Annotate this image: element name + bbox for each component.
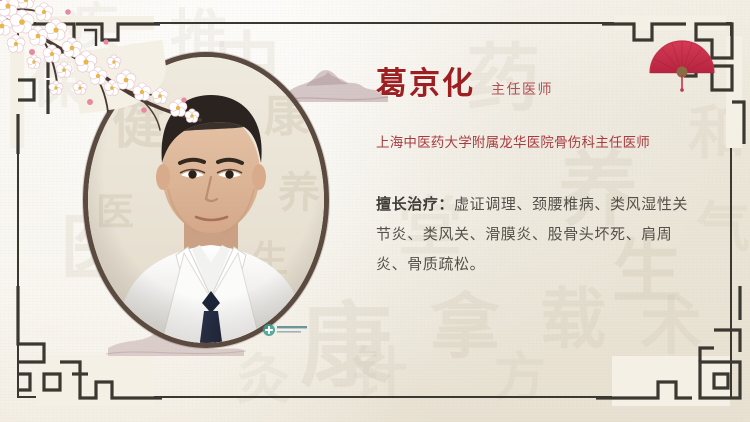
hospital-logo-badge bbox=[262, 322, 320, 338]
plum-blossom-icon bbox=[7, 35, 25, 53]
doctor-profile-card: 健康养生中医药堂拿载术推保疾寿和气针灸方 bbox=[0, 0, 750, 422]
plum-blossom-icon bbox=[185, 109, 199, 122]
plum-blossom-icon bbox=[152, 88, 168, 104]
plum-blossom-branch-decoration bbox=[0, 0, 209, 142]
plum-blossom-icon bbox=[17, 0, 35, 8]
plum-blossom-icon bbox=[133, 83, 151, 101]
plum-bud-icon bbox=[87, 99, 93, 105]
plum-bud-icon bbox=[181, 97, 186, 102]
plum-blossom-icon bbox=[49, 81, 63, 95]
plum-blossom-icon bbox=[35, 3, 53, 21]
plum-bud-icon bbox=[103, 39, 108, 44]
watermark-char: 载 bbox=[540, 286, 606, 352]
watermark-char: 针 bbox=[352, 346, 408, 402]
frame-rail-mask bbox=[726, 36, 742, 148]
specialty-label: 擅长治疗： bbox=[376, 195, 454, 213]
doctor-info-block: 葛京化 主任医师 上海中医药大学附属龙华医院骨伤科主任医师 擅长治疗：虚证调理、… bbox=[376, 58, 694, 279]
watermark-char: 和 bbox=[688, 104, 746, 162]
watermark-char: 拿 bbox=[430, 292, 500, 362]
plum-bud-icon bbox=[29, 49, 35, 55]
watermark-char: 方 bbox=[494, 352, 546, 404]
doctor-specialty: 擅长治疗：虚证调理、颈腰椎病、类风湿性关节炎、类风关、滑膜炎、股骨头坏死、肩周炎… bbox=[376, 189, 694, 279]
plum-blossom-icon bbox=[73, 81, 87, 95]
plum-blossom-icon bbox=[56, 62, 72, 78]
plum-blossom-icon bbox=[27, 55, 41, 69]
meander-corner-bottom-right bbox=[596, 286, 748, 406]
plum-bud-icon bbox=[141, 107, 147, 113]
plum-blossom-icon bbox=[107, 55, 121, 69]
watermark-char: 气 bbox=[696, 200, 750, 254]
doctor-affiliation: 上海中医药大学附属龙华医院骨伤科主任医师 bbox=[376, 131, 694, 151]
frame-rail-mask bbox=[614, 16, 726, 30]
doctor-name: 葛京化 bbox=[376, 58, 475, 103]
plum-blossom-icon bbox=[62, 38, 82, 57]
frame-rail-mask bbox=[612, 356, 730, 406]
name-row: 葛京化 主任医师 bbox=[376, 58, 694, 103]
doctor-title: 主任医师 bbox=[491, 79, 553, 99]
plum-blossom-icon bbox=[45, 19, 67, 40]
plum-blossom-icon bbox=[116, 70, 136, 89]
plum-bud-icon bbox=[65, 9, 71, 15]
watermark-char: 术 bbox=[640, 296, 702, 358]
frame-rail-mask bbox=[36, 356, 154, 406]
